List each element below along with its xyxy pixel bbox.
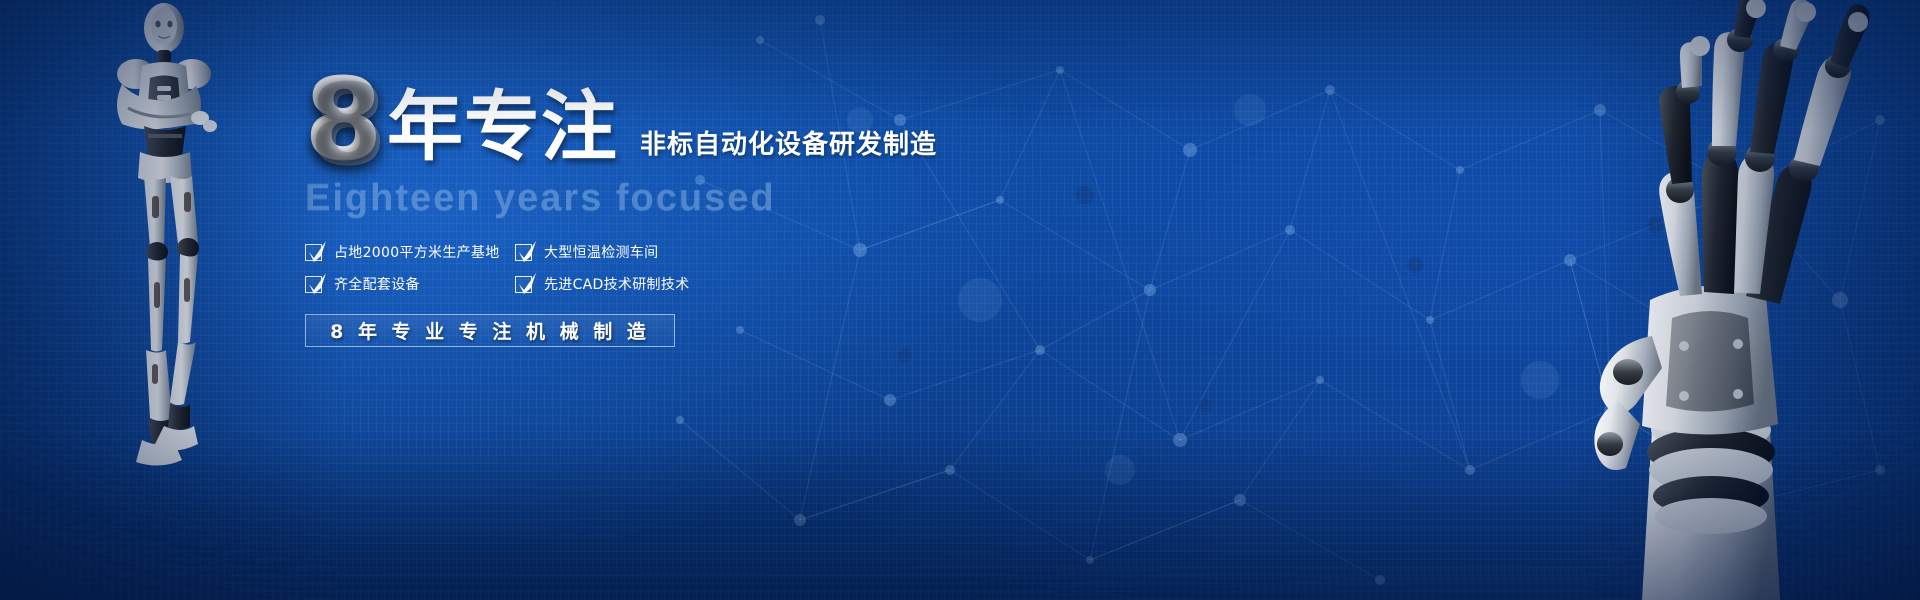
feature-list: 占地2000平方米生产基地 大型恒温检测车间 齐全配套设备 先进CAD技术研制技… bbox=[305, 242, 1085, 294]
robotic-hand bbox=[1532, 0, 1892, 600]
banner-text-block: 8 年专注 非标自动化设备研发制造 Eighteen years focused… bbox=[305, 70, 1085, 347]
checkbox-check-icon bbox=[305, 244, 322, 261]
headline-subtitle-cn: 非标自动化设备研发制造 bbox=[640, 124, 937, 161]
feature-cad-tech: 先进CAD技术研制技术 bbox=[515, 274, 775, 294]
feature-test-room: 大型恒温检测车间 bbox=[515, 242, 775, 262]
cta-label: 8 年 专 业 专 注 机 械 制 造 bbox=[330, 317, 650, 344]
checkbox-check-icon bbox=[305, 276, 322, 293]
feature-label: 齐全配套设备 bbox=[334, 274, 420, 294]
headline-cn: 年专注 bbox=[387, 89, 618, 165]
headline-english: Eighteen years focused bbox=[305, 177, 1085, 220]
feature-equipment: 齐全配套设备 bbox=[305, 274, 515, 294]
headline-row: 8 年专注 非标自动化设备研发制造 bbox=[305, 70, 1085, 173]
feature-land-area: 占地2000平方米生产基地 bbox=[305, 242, 515, 262]
feature-label: 占地2000平方米生产基地 bbox=[334, 242, 500, 262]
humanoid-robot-figure bbox=[72, 0, 262, 490]
checkbox-check-icon bbox=[515, 276, 532, 293]
feature-label: 先进CAD技术研制技术 bbox=[544, 274, 689, 294]
cta-banner-button[interactable]: 8 年 专 业 专 注 机 械 制 造 bbox=[305, 314, 675, 347]
hero-banner: 8 年专注 非标自动化设备研发制造 Eighteen years focused… bbox=[0, 0, 1920, 600]
feature-label: 大型恒温检测车间 bbox=[544, 242, 658, 262]
years-number: 8 bbox=[305, 70, 387, 173]
checkbox-check-icon bbox=[515, 244, 532, 261]
